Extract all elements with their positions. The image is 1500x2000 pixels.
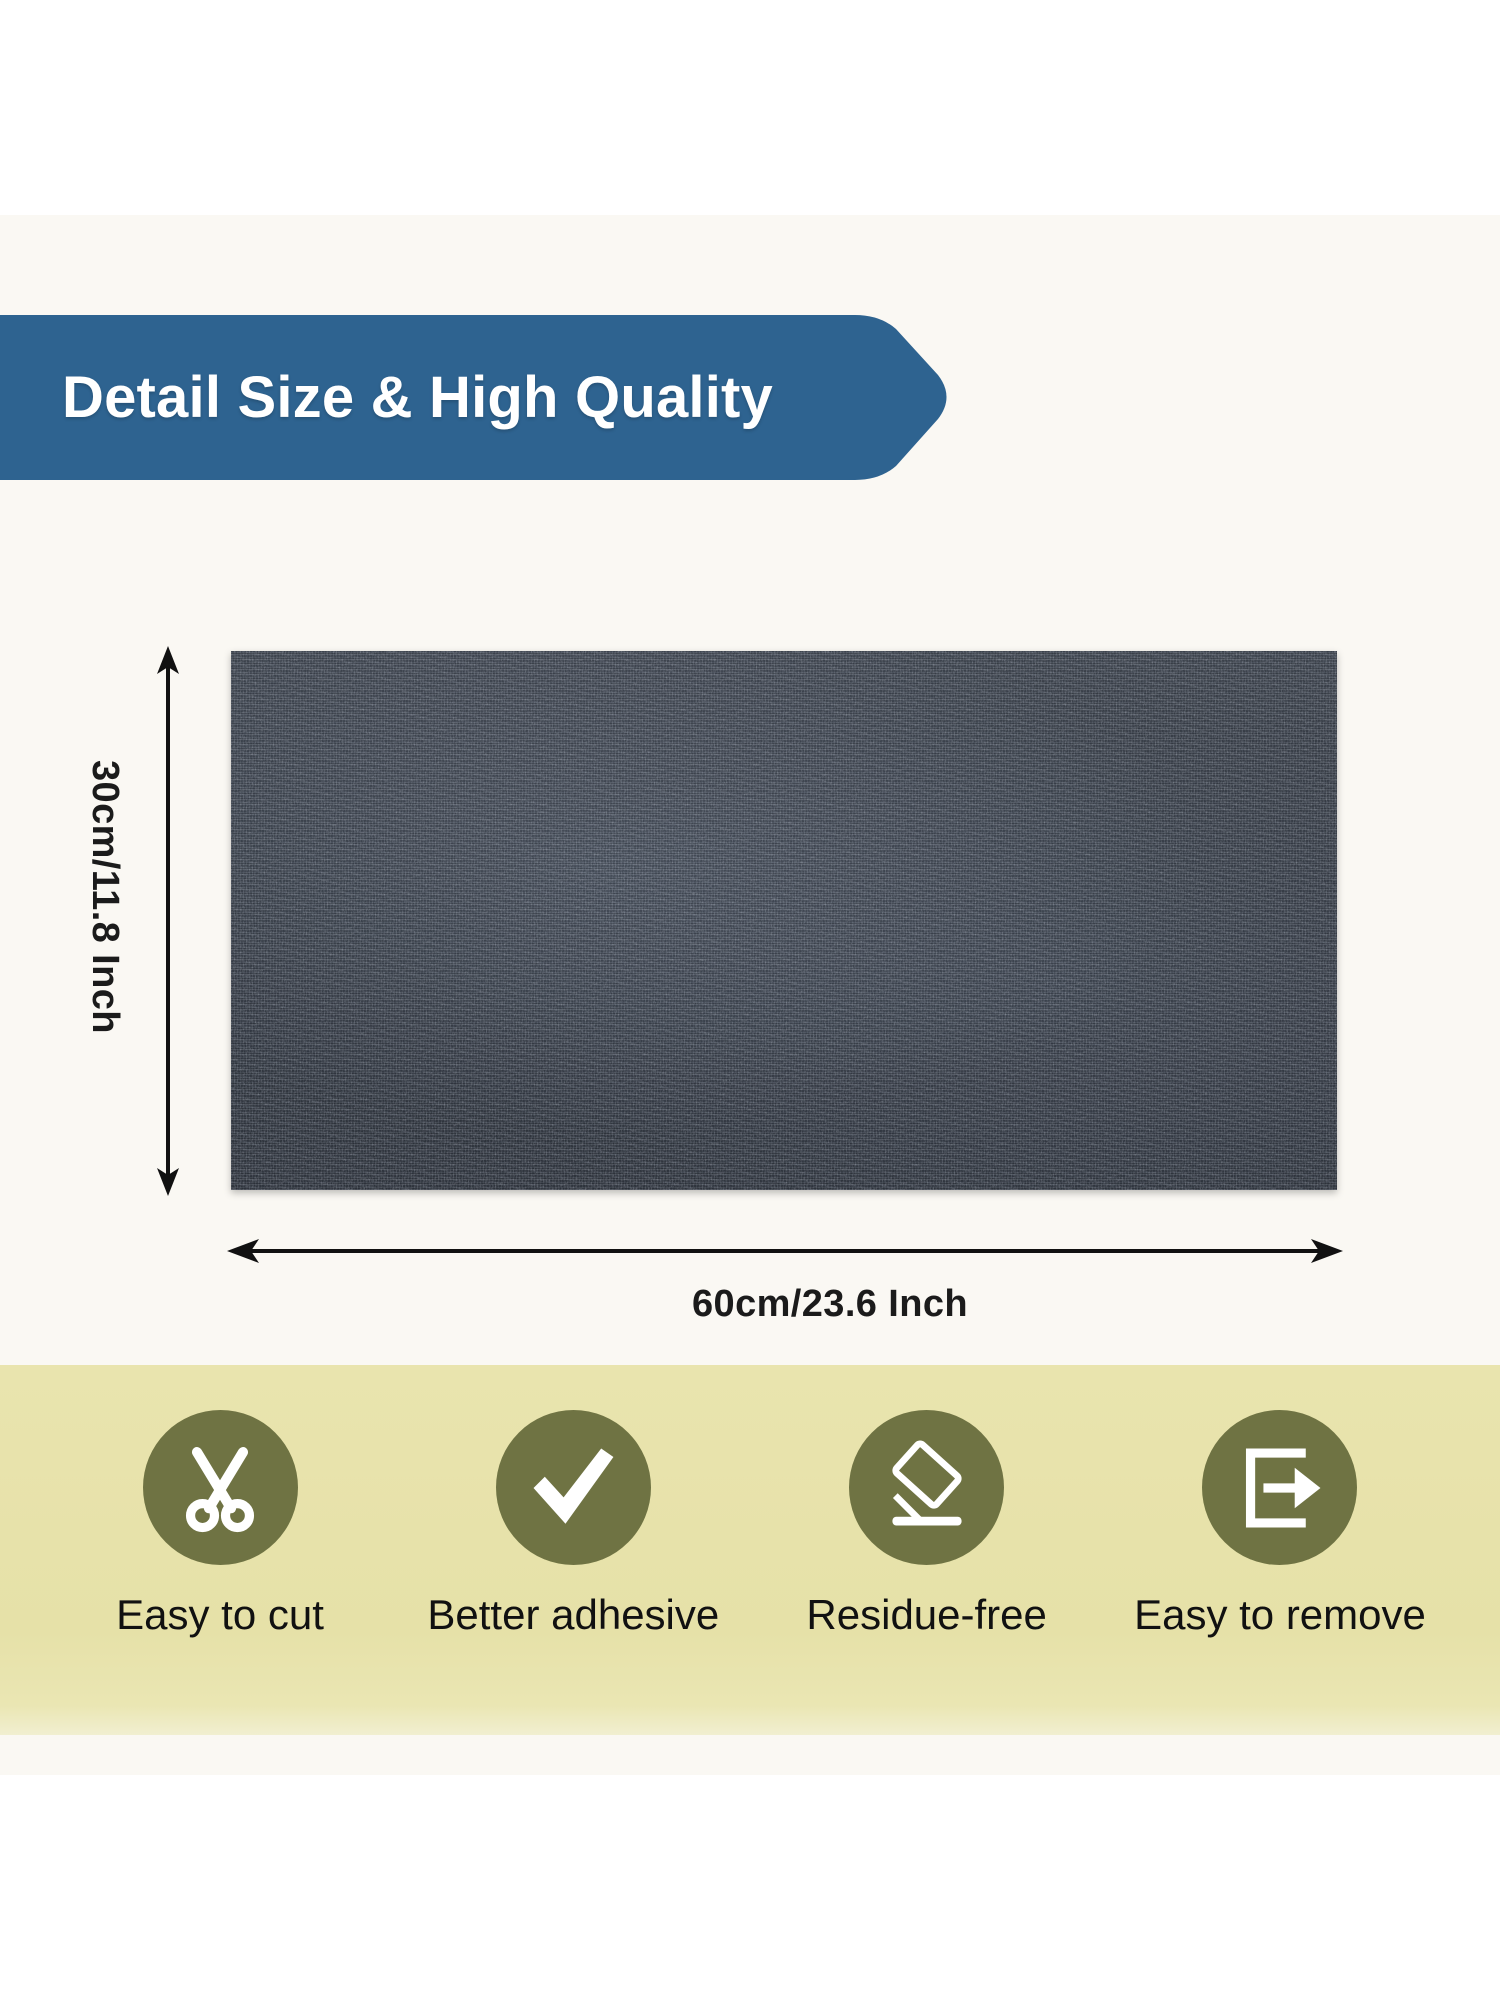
feature-icon-circle: [143, 1410, 298, 1565]
feature-label: Easy to cut: [116, 1591, 324, 1639]
feature-label: Easy to remove: [1134, 1591, 1426, 1639]
width-dimension-text: 60cm/23.6 Inch: [692, 1283, 968, 1326]
height-dimension-arrow: [150, 640, 210, 1202]
scissors-icon: [174, 1442, 266, 1534]
check-icon: [526, 1441, 620, 1535]
carpet-mat: [231, 651, 1337, 1190]
width-dimension-label: 60cm/23.6 Inch: [0, 1283, 1500, 1326]
feature-better-adhesive: Better adhesive: [408, 1365, 738, 1639]
height-dimension-label: 30cm/11.8 Inch: [83, 760, 126, 820]
feature-icon-circle: [1202, 1410, 1357, 1565]
feature-icon-circle: [849, 1410, 1004, 1565]
width-dimension-arrow: [225, 1228, 1345, 1274]
feature-easy-to-cut: Easy to cut: [55, 1365, 385, 1639]
feature-icon-circle: [496, 1410, 651, 1565]
eraser-icon: [879, 1440, 975, 1536]
exit-arrow-icon: [1234, 1442, 1326, 1534]
feature-band: Easy to cut Better adhesive: [0, 1365, 1500, 1735]
carpet-fiber-speckle: [231, 651, 1337, 1190]
feature-list: Easy to cut Better adhesive: [0, 1365, 1500, 1735]
feature-easy-to-remove: Easy to remove: [1115, 1365, 1445, 1639]
product-infographic: Detail Size & High Quality: [0, 0, 1500, 2000]
feature-residue-free: Residue-free: [762, 1365, 1092, 1639]
product-figure: 30cm/11.8 Inch 60cm/23.6 Inch: [0, 0, 1500, 1365]
banner-title: Detail Size & High Quality: [62, 369, 773, 427]
feature-label: Better adhesive: [427, 1591, 719, 1639]
feature-label: Residue-free: [806, 1591, 1046, 1639]
